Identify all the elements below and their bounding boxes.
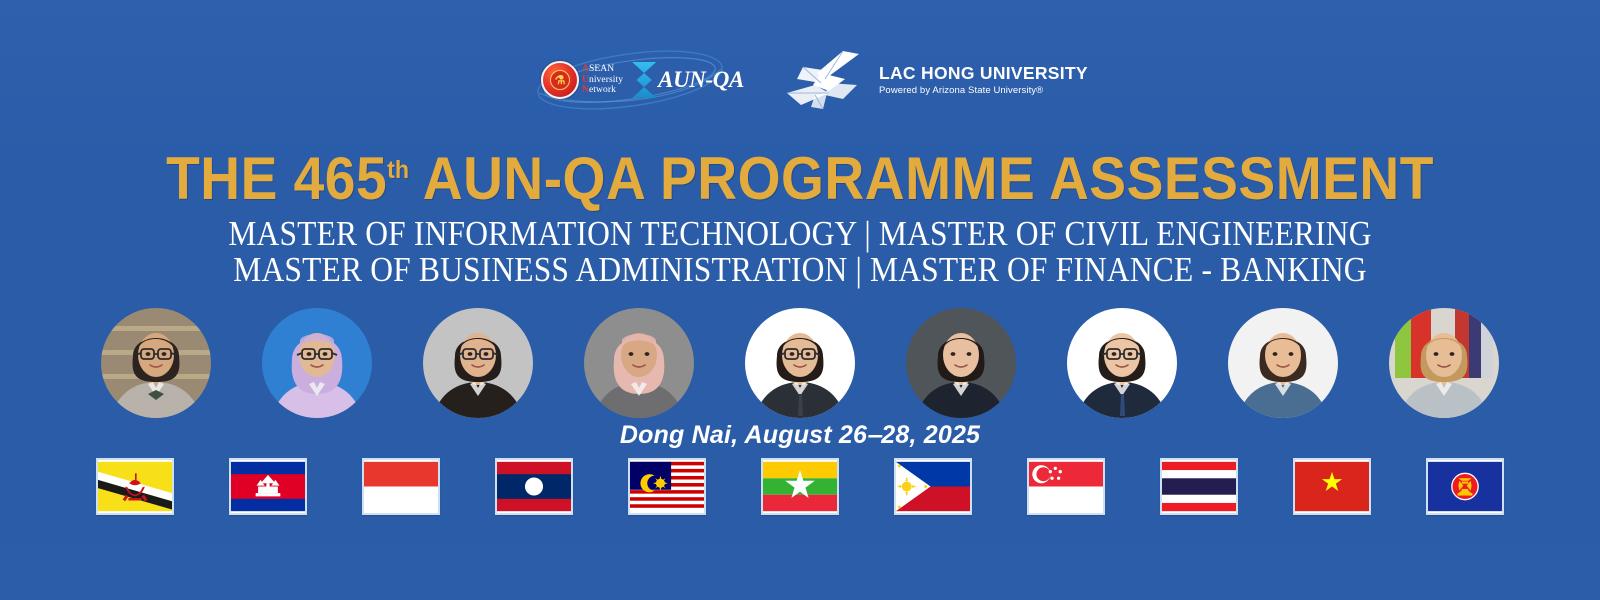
assessor-portrait bbox=[745, 308, 855, 418]
assessor-portrait bbox=[1067, 308, 1177, 418]
flag-malaysia bbox=[628, 458, 706, 515]
assessor-portrait bbox=[906, 308, 1016, 418]
aun-initial-u: U bbox=[582, 75, 589, 85]
title-ordinal-suffix: th bbox=[387, 156, 409, 184]
assessor-portrait bbox=[584, 308, 694, 418]
aun-qa-logo: ⚗ ASEAN University Network AUN-QA bbox=[535, 49, 725, 111]
assessor-portrait-row bbox=[0, 307, 1600, 419]
assessor-portrait bbox=[262, 308, 372, 418]
aun-network-wordmark: ASEAN University Network bbox=[582, 64, 623, 96]
flag-philippines bbox=[894, 458, 972, 515]
page-title: THE 465th AUN-QA PROGRAMME ASSESSMENT bbox=[64, 139, 1536, 210]
lhu-subtitle: Powered by Arizona State University® bbox=[879, 86, 1088, 96]
flag-cambodia bbox=[229, 458, 307, 515]
aun-initial-a: A bbox=[582, 64, 589, 74]
flag-brunei bbox=[96, 458, 174, 515]
flag-indonesia bbox=[362, 458, 440, 515]
lac-hong-university-logo: LAC HONG UNIVERSITY Powered by Arizona S… bbox=[785, 48, 1065, 112]
lhu-text-block: LAC HONG UNIVERSITY Powered by Arizona S… bbox=[879, 65, 1088, 96]
asean-flag-row bbox=[0, 456, 1600, 516]
logo-row: ⚗ ASEAN University Network AUN-QA bbox=[0, 48, 1600, 112]
flag-thailand bbox=[1160, 458, 1238, 515]
origami-bird-icon bbox=[785, 49, 871, 111]
aun-word-network: etwork bbox=[589, 85, 616, 95]
lhu-name: LAC HONG UNIVERSITY bbox=[879, 65, 1088, 83]
hourglass-icon bbox=[632, 62, 656, 98]
subtitle-line-1: MASTER OF INFORMATION TECHNOLOGY | MASTE… bbox=[80, 214, 1520, 254]
assessor-portrait bbox=[1389, 308, 1499, 418]
subtitle-line-2: MASTER OF BUSINESS ADMINISTRATION | MAST… bbox=[80, 250, 1520, 290]
asean-seal-emblem-icon: ⚗ bbox=[550, 70, 570, 90]
aun-initial-n: N bbox=[582, 85, 589, 95]
event-banner: ⚗ ASEAN University Network AUN-QA bbox=[0, 0, 1600, 600]
asean-seal-glyph: ⚗ bbox=[555, 74, 566, 86]
assessor-portrait bbox=[1228, 308, 1338, 418]
aunqa-wordmark-group: AUN-QA bbox=[632, 62, 744, 98]
flag-singapore bbox=[1027, 458, 1105, 515]
asean-seal-icon: ⚗ bbox=[541, 61, 579, 99]
title-rest: AUN-QA PROGRAMME ASSESSMENT bbox=[409, 145, 1434, 212]
flag-laos bbox=[495, 458, 573, 515]
title-prefix: THE 465 bbox=[166, 145, 387, 212]
flag-vietnam bbox=[1293, 458, 1371, 515]
assessor-portrait bbox=[101, 308, 211, 418]
aun-word-asean: SEAN bbox=[589, 64, 614, 74]
aun-word-university: niversity bbox=[589, 75, 623, 85]
flag-myanmar bbox=[761, 458, 839, 515]
assessor-portrait bbox=[423, 308, 533, 418]
flag-asean bbox=[1426, 458, 1504, 515]
aunqa-wordmark: AUN-QA bbox=[658, 67, 744, 93]
event-date: Dong Nai, August 26‒28, 2025 bbox=[0, 421, 1600, 450]
